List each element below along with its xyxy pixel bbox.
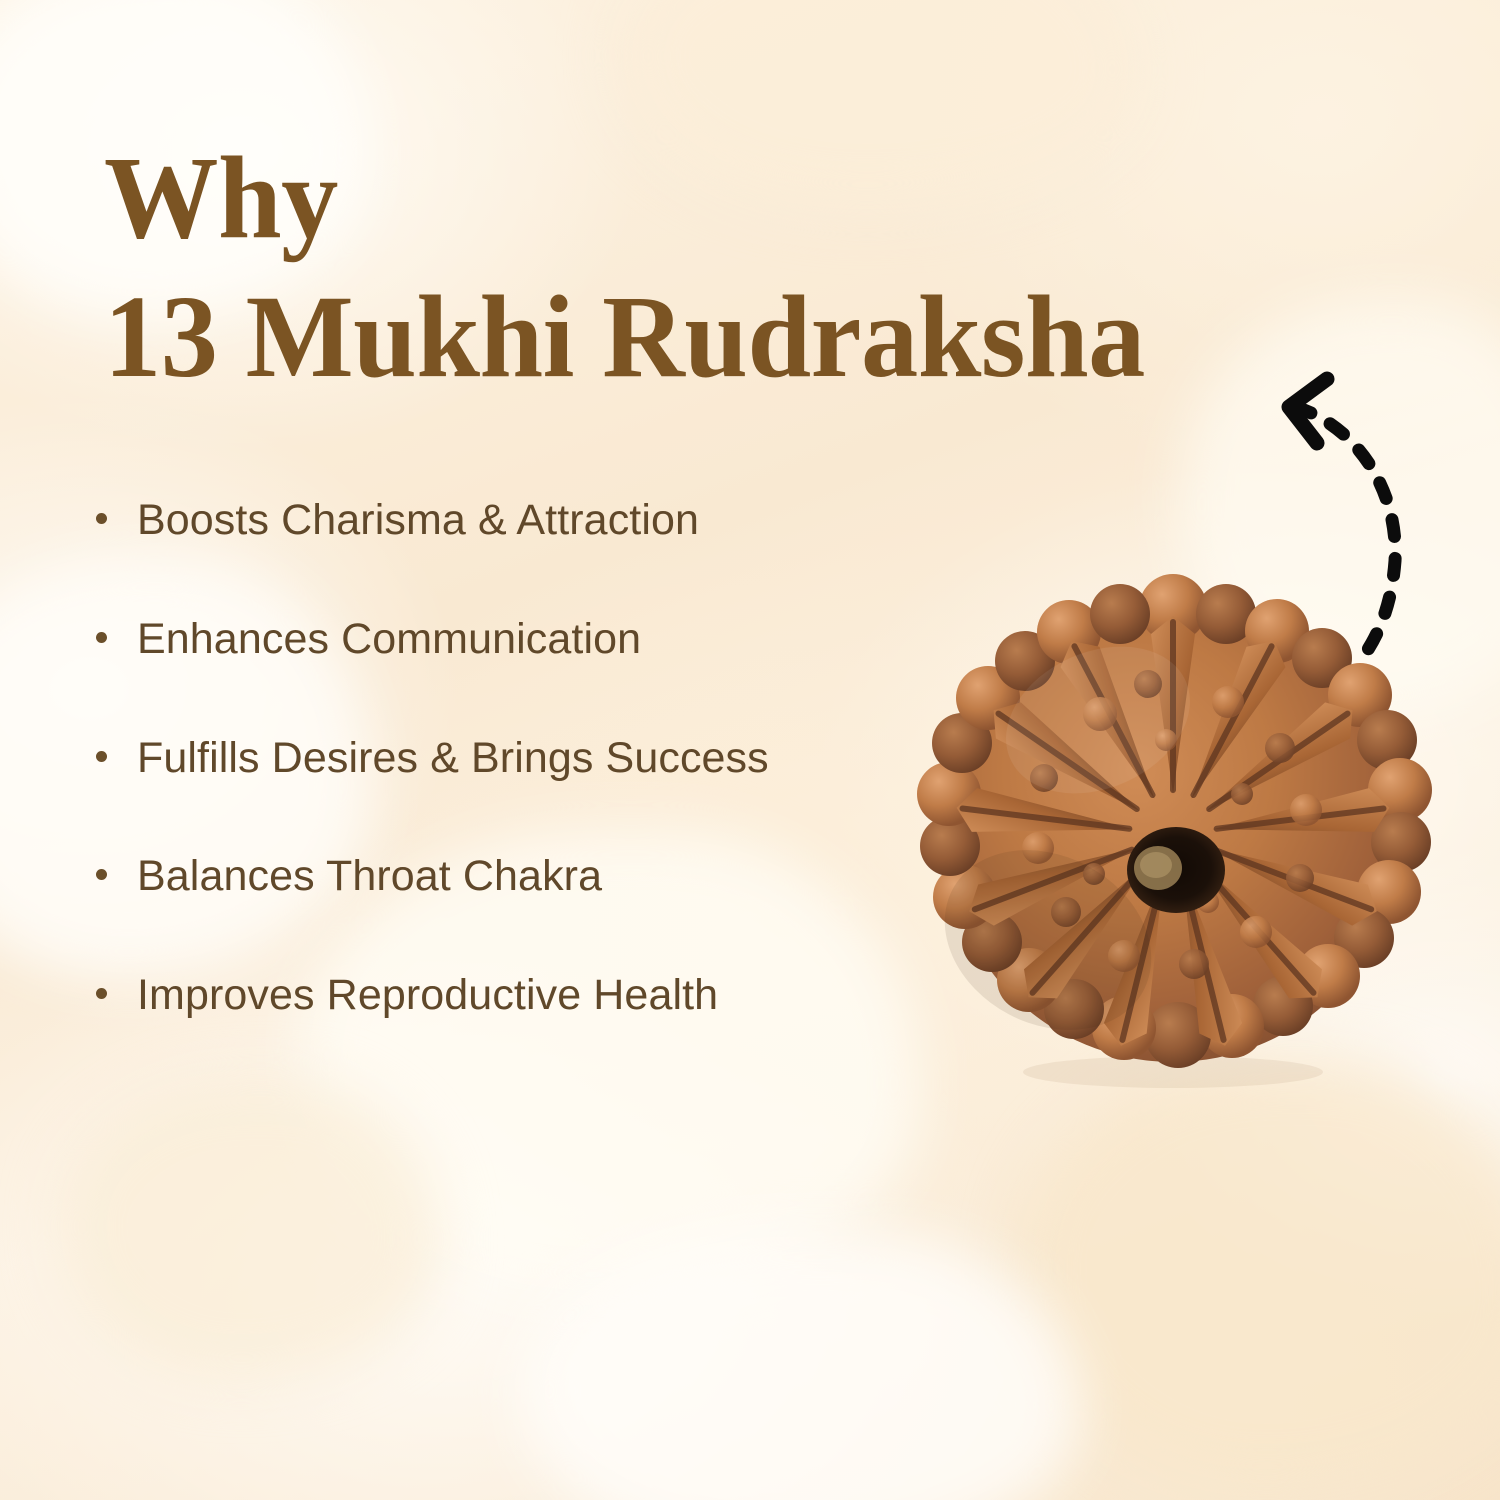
page-title: Why 13 Mukhi Rudraksha xyxy=(104,128,1284,406)
page-title-line-1: Why xyxy=(104,128,1249,267)
bullet-dot-icon xyxy=(96,513,107,524)
page-title-line-2: 13 Mukhi Rudraksha xyxy=(104,267,1249,406)
wash-blotch-6 xyxy=(520,1230,1080,1500)
list-item: Fulfills Desires & Brings Success xyxy=(96,730,796,787)
benefit-label: Balances Throat Chakra xyxy=(137,848,602,905)
benefits-list: Boosts Charisma & Attraction Enhances Co… xyxy=(96,492,926,1024)
list-item: Enhances Communication xyxy=(96,611,926,668)
benefit-label: Boosts Charisma & Attraction xyxy=(137,492,699,549)
poster-canvas: Why 13 Mukhi Rudraksha Boosts Charisma &… xyxy=(0,0,1500,1500)
list-item: Boosts Charisma & Attraction xyxy=(96,492,926,549)
list-item: Improves Reproductive Health xyxy=(96,967,926,1024)
bullet-dot-icon xyxy=(96,751,107,762)
bullet-dot-icon xyxy=(96,988,107,999)
list-item: Balances Throat Chakra xyxy=(96,848,926,905)
rudraksha-bead-graphic xyxy=(908,572,1438,1097)
benefit-label: Fulfills Desires & Brings Success xyxy=(137,730,769,787)
benefit-label: Improves Reproductive Health xyxy=(137,967,718,1024)
bullet-dot-icon xyxy=(96,869,107,880)
benefit-label: Enhances Communication xyxy=(137,611,641,668)
wash-blotch-5 xyxy=(1020,1060,1500,1490)
bullet-dot-icon xyxy=(96,632,107,643)
wash-blotch-8 xyxy=(60,1080,440,1380)
rudraksha-bead-image xyxy=(908,572,1438,1097)
